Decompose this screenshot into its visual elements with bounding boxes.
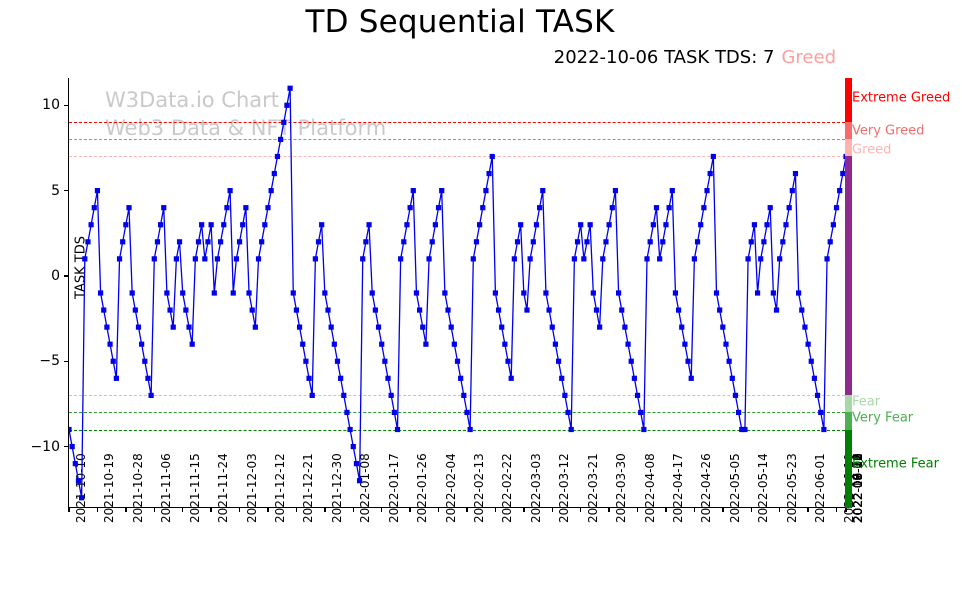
x-tick-mark: [296, 507, 297, 512]
y-tick-label: 5: [14, 183, 69, 199]
x-tick-mark: [580, 507, 581, 512]
zone-color-bar: [845, 78, 852, 508]
x-tick-mark: [324, 507, 325, 512]
zone-label-greed: Greed: [852, 142, 891, 157]
subtitle-date: 2022-10-06 TASK TDS: 7: [554, 47, 775, 68]
zone-label-very-greed: Very Greed: [852, 123, 924, 138]
x-tick-mark: [353, 507, 354, 512]
series-clip: [69, 78, 845, 507]
x-tick-mark: [637, 507, 638, 512]
x-tick-mark: [751, 507, 752, 512]
x-tick-mark: [694, 507, 695, 512]
zone-segment-very-fear: [845, 412, 852, 429]
x-tick-mark: [722, 507, 723, 512]
page-title: TD Sequential TASK: [0, 4, 920, 40]
subtitle: 2022-10-06 TASK TDS: 7Greed: [554, 47, 836, 68]
chart-plot-area: W3Data.io Chart Web3 Data & NFT Platform…: [68, 78, 845, 508]
subtitle-mood: Greed: [781, 47, 836, 68]
zone-segment-fear: [845, 395, 852, 412]
zone-segment-extreme-fear: [845, 430, 852, 508]
x-tick-mark: [552, 507, 553, 512]
zone-segment-neutral: [845, 156, 852, 395]
x-tick-mark: [409, 507, 410, 512]
x-tick-mark: [125, 507, 126, 512]
x-tick-mark: [665, 507, 666, 512]
x-tick-mark: [836, 507, 837, 512]
x-tick-mark: [68, 507, 69, 512]
zone-label-very-fear: Very Fear: [852, 410, 913, 425]
x-tick-mark: [438, 507, 439, 512]
zone-segment-greed: [845, 139, 852, 156]
x-tick-mark: [779, 507, 780, 512]
zone-label-extreme-fear: Extreme Fear: [852, 456, 939, 471]
y-tick-label: 0: [14, 268, 69, 284]
y-tick-label: −5: [14, 353, 69, 369]
x-tick-mark: [154, 507, 155, 512]
x-tick-mark: [267, 507, 268, 512]
x-tick-mark: [608, 507, 609, 512]
x-tick-mark: [97, 507, 98, 512]
tds-series-line: [69, 78, 845, 507]
zone-segment-very-greed: [845, 122, 852, 139]
x-tick-mark: [381, 507, 382, 512]
y-tick-label: 10: [14, 97, 69, 113]
x-tick-mark: [210, 507, 211, 512]
zone-segment-extreme-greed: [845, 78, 852, 122]
x-tick-mark: [495, 507, 496, 512]
y-tick-label: −10: [14, 439, 69, 455]
x-tick-mark: [239, 507, 240, 512]
x-tick-mark: [466, 507, 467, 512]
x-tick-mark: [807, 507, 808, 512]
x-tick-mark: [523, 507, 524, 512]
x-tick-mark: [182, 507, 183, 512]
zone-label-extreme-greed: Extreme Greed: [852, 91, 950, 106]
zone-label-fear: Fear: [852, 395, 880, 410]
